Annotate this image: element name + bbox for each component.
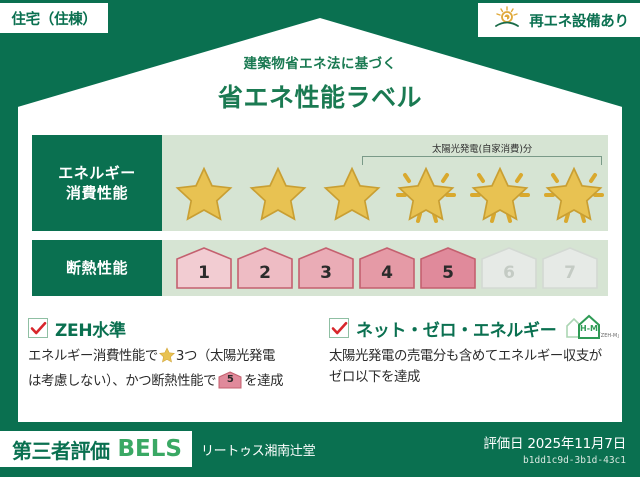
metrics-section: エネルギー 消費性能 太陽光発電(自家消費)分 断熱性能 1234567 bbox=[32, 135, 608, 305]
evaluation-id: b1dd1c9d-3b1d-43c1 bbox=[483, 455, 626, 466]
criterion-nze-head: ネット・ゼロ・エネルギー H-M 「ZEH-M」 bbox=[329, 316, 612, 340]
insulation-level-scale: 1234567 bbox=[162, 240, 608, 296]
criteria-section: ZEH水準 エネルギー消費性能で3つ（太陽光発電 は考慮しない）、かつ断熱性能で… bbox=[28, 316, 612, 393]
solar-bracket-label: 太陽光発電(自家消費)分 bbox=[362, 141, 602, 155]
footer-bar: 第三者評価 BELS リートゥス湘南辻堂 評価日 2025年11月7日 b1dd… bbox=[0, 429, 640, 469]
building-name: リートゥス湘南辻堂 bbox=[201, 440, 315, 459]
zeh-m-logo-caption: 「ZEH-M」 bbox=[596, 333, 619, 339]
house-type-tag-label: 住宅（住棟） bbox=[11, 8, 96, 29]
bels-logo-label: BELS bbox=[118, 436, 182, 462]
inline-level-badge: 5 bbox=[218, 371, 242, 389]
criterion-zeh: ZEH水準 エネルギー消費性能で3つ（太陽光発電 は考慮しない）、かつ断熱性能で… bbox=[28, 316, 311, 393]
energy-performance-stars-panel: 太陽光発電(自家消費)分 bbox=[162, 135, 608, 231]
third-party-eval-label: 第三者評価 bbox=[12, 435, 110, 464]
insulation-performance-label: 断熱性能 bbox=[32, 240, 162, 296]
title-subtitle: 建築物省エネ法に基づく bbox=[18, 52, 622, 72]
insulation-level-active: 1 bbox=[175, 246, 233, 290]
criterion-net-zero-energy: ネット・ゼロ・エネルギー H-M 「ZEH-M」 太陽光発電の売電分も含めてエネ… bbox=[329, 316, 612, 393]
insulation-performance-row: 断熱性能 1234567 bbox=[32, 240, 608, 296]
sun-renewable-icon bbox=[493, 6, 523, 34]
check-icon bbox=[30, 320, 47, 337]
star-rating bbox=[162, 157, 608, 231]
criterion-zeh-head: ZEH水準 bbox=[28, 316, 311, 340]
insulation-level-active: 5 bbox=[419, 246, 477, 290]
page-title: 建築物省エネ法に基づく 省エネ性能ラベル bbox=[18, 52, 622, 114]
check-icon bbox=[331, 320, 348, 337]
zeh-m-logo: H-M 「ZEH-M」 bbox=[563, 314, 619, 342]
energy-performance-row: エネルギー 消費性能 太陽光発電(自家消費)分 bbox=[32, 135, 608, 231]
energy-performance-label: エネルギー 消費性能 bbox=[32, 135, 162, 231]
house-type-tag: 住宅（住棟） bbox=[0, 3, 108, 33]
evaluation-date: 評価日 2025年11月7日 bbox=[483, 432, 626, 452]
star-solar bbox=[540, 161, 608, 227]
net-zero-checkbox[interactable] bbox=[329, 318, 349, 338]
criterion-nze-body: 太陽光発電の売電分も含めてエネルギー収支がゼロ以下を達成 bbox=[329, 347, 612, 389]
zeh-checkbox[interactable] bbox=[28, 318, 48, 338]
zeh-m-logo-label: H-M bbox=[580, 324, 598, 333]
insulation-levels-panel: 1234567 bbox=[162, 240, 608, 296]
renewable-energy-label: 再エネ設備あり bbox=[529, 10, 628, 31]
criterion-zeh-body: エネルギー消費性能で3つ（太陽光発電 は考慮しない）、かつ断熱性能で5を達成 bbox=[28, 347, 311, 393]
evaluation-info: 評価日 2025年11月7日 b1dd1c9d-3b1d-43c1 bbox=[483, 432, 626, 466]
star-filled bbox=[170, 161, 238, 227]
title-main: 省エネ性能ラベル bbox=[18, 78, 622, 114]
bels-plate: 第三者評価 BELS bbox=[0, 431, 192, 467]
insulation-level-active: 2 bbox=[236, 246, 294, 290]
criterion-zeh-title: ZEH水準 bbox=[55, 316, 126, 341]
insulation-level-inactive: 7 bbox=[541, 246, 599, 290]
criterion-nze-title: ネット・ゼロ・エネルギー bbox=[356, 316, 556, 341]
star-solar bbox=[466, 161, 534, 227]
inline-star-icon bbox=[159, 347, 175, 371]
star-filled bbox=[244, 161, 312, 227]
renewable-energy-badge: 再エネ設備あり bbox=[478, 3, 640, 37]
star-filled bbox=[318, 161, 386, 227]
star-solar bbox=[392, 161, 460, 227]
insulation-level-active: 3 bbox=[297, 246, 355, 290]
insulation-level-active: 4 bbox=[358, 246, 416, 290]
insulation-level-inactive: 6 bbox=[480, 246, 538, 290]
